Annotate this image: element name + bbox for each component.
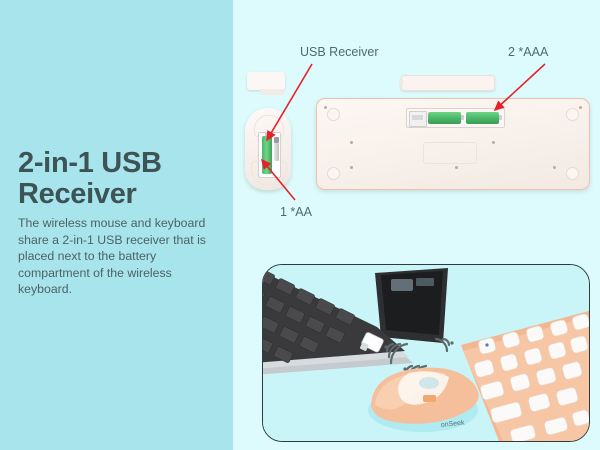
usb-receiver-slot-icon	[409, 111, 427, 127]
keyboard-label-plate	[423, 142, 477, 164]
description-text: The wireless mouse and keyboard share a …	[18, 215, 223, 298]
product-photo-scene: onSeek	[263, 265, 589, 441]
mouse-illustration	[245, 108, 291, 190]
keyboard-screw	[492, 141, 495, 144]
mouse-battery-compartment	[258, 132, 281, 178]
infographic-page: 2-in-1 USB Receiver The wireless mouse a…	[0, 0, 600, 450]
label-aa-battery: 1 *AA	[280, 205, 312, 219]
usb-receiver-icon	[274, 143, 279, 161]
keyboard-screw	[455, 166, 458, 169]
keyboard-screw	[350, 141, 353, 144]
keyboard-foot	[327, 167, 340, 180]
keyboard-battery-cover	[401, 75, 495, 91]
keyboard-foot	[327, 108, 340, 121]
label-usb-receiver: USB Receiver	[300, 45, 379, 59]
keyboard-illustration	[316, 98, 590, 190]
aaa-battery-icon	[466, 112, 499, 124]
product-photo: onSeek	[262, 264, 590, 442]
page-title: 2-in-1 USB Receiver	[18, 148, 218, 211]
keyboard-screw	[324, 106, 327, 109]
keyboard-screw	[579, 106, 582, 109]
label-aaa-batteries: 2 *AAA	[508, 45, 548, 59]
keyboard-screw	[553, 166, 556, 169]
keyboard-battery-compartment	[406, 108, 505, 128]
mouse-battery-cover	[247, 72, 285, 90]
keyboard-screw	[350, 166, 353, 169]
aaa-battery-icon	[428, 112, 461, 124]
laptop-screen-illustration	[375, 268, 448, 343]
aa-battery-icon	[262, 136, 272, 174]
left-text-panel: 2-in-1 USB Receiver The wireless mouse a…	[0, 0, 233, 450]
keyboard-foot	[566, 108, 579, 121]
keyboard-foot	[566, 167, 579, 180]
